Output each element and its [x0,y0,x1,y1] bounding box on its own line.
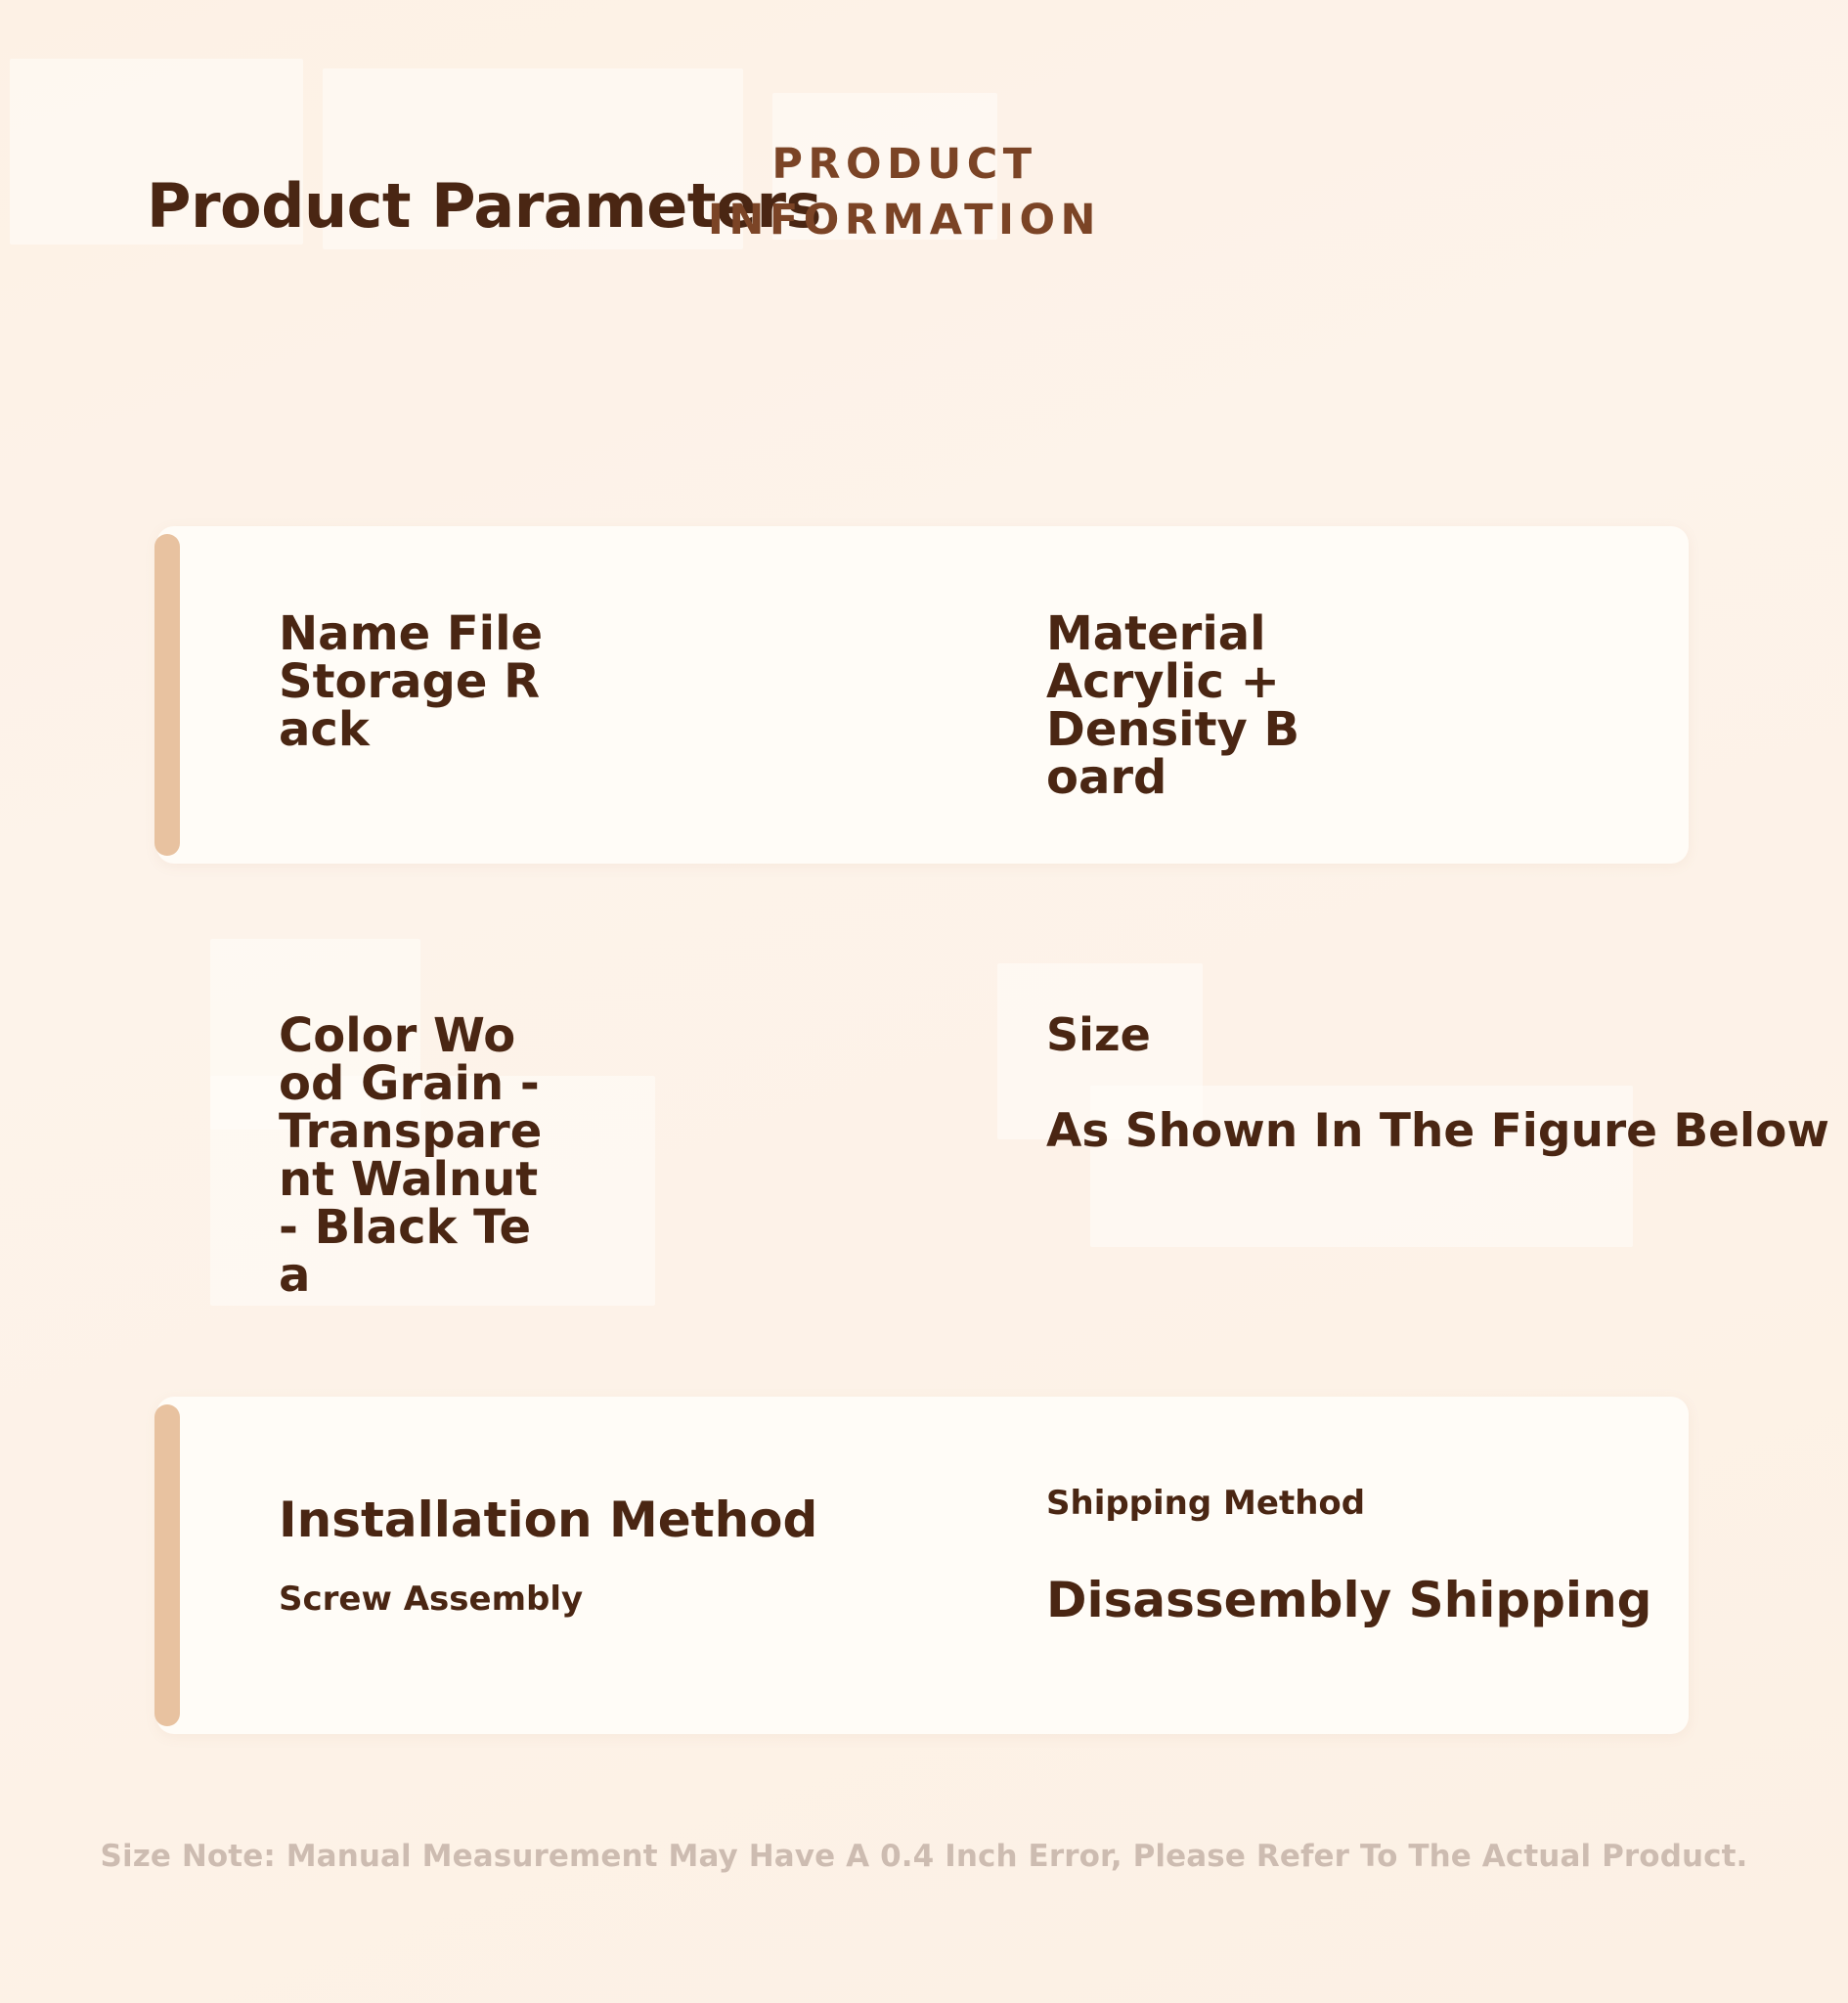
product-information-page: Product Parameters PRODUCT INFORMATION N… [0,0,1848,2003]
spec-material-text: Material Acrylic + Density Board [1046,610,1315,802]
spec-cell-shipping: Shipping Method Disassembly Shipping [929,1397,1689,1734]
spec-row-color-size: Color Wood Grain - Transparent Walnut - … [156,934,1689,1271]
brand-title-block: PRODUCT INFORMATION [670,137,1139,248]
spec-cell-name: Name File Storage Rack [156,526,929,864]
spec-row-installation-shipping: Installation Method Screw Assembly Shipp… [156,1397,1689,1734]
spec-installation-value: Screw Assembly [279,1582,583,1618]
spec-installation-label: Installation Method [279,1494,817,1546]
size-note-footer: Size Note: Manual Measurement May Have A… [0,1839,1848,1874]
spec-row-name-material: Name File Storage Rack Material Acrylic … [156,526,1689,864]
brand-title-line-1: PRODUCT [670,137,1139,193]
page-header: Product Parameters PRODUCT INFORMATION [0,0,1848,323]
spec-size-value: As Shown In The Figure Below [1046,1108,1829,1155]
spec-size-label: Size [1046,1012,1151,1058]
brand-title-line-2: INFORMATION [670,193,1139,248]
spec-cell-color: Color Wood Grain - Transparent Walnut - … [156,934,929,1271]
spec-color-text: Color Wood Grain - Transparent Walnut - … [279,1012,548,1300]
spec-name-text: Name File Storage Rack [279,610,548,754]
spec-shipping-label: Shipping Method [1046,1487,1365,1522]
spec-shipping-value: Disassembly Shipping [1046,1575,1651,1626]
spec-cell-size: Size As Shown In The Figure Below [929,934,1689,1271]
spec-cell-material: Material Acrylic + Density Board [929,526,1689,864]
spec-cell-installation: Installation Method Screw Assembly [156,1397,929,1734]
